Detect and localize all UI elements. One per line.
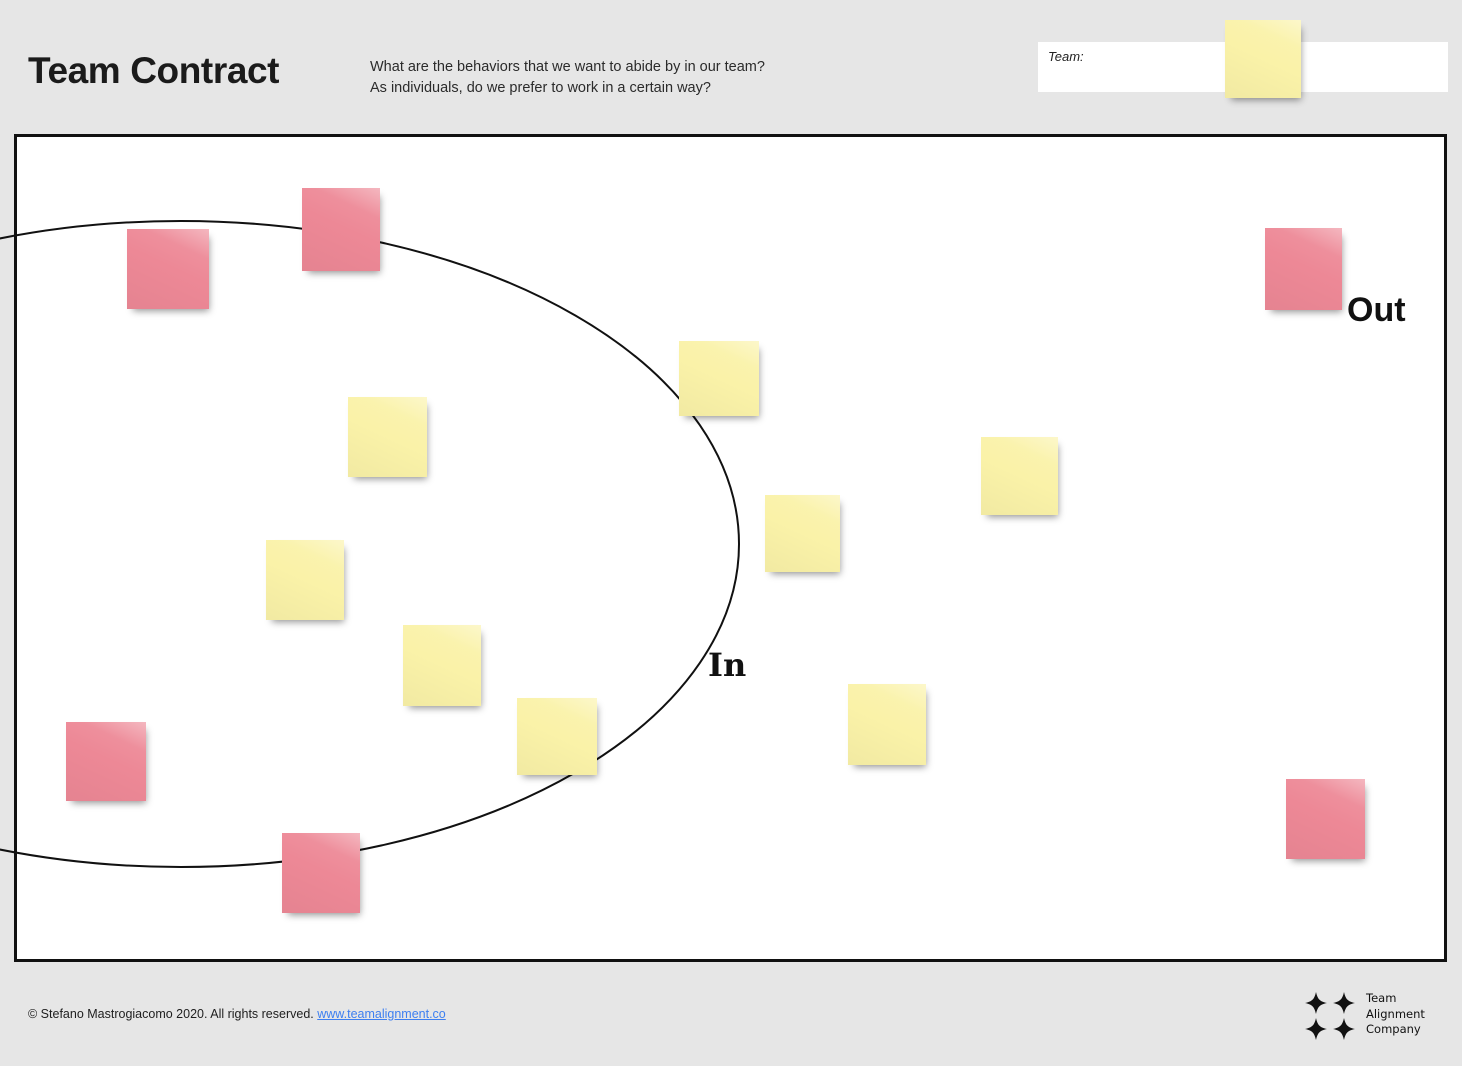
subtitle-line-2: As individuals, do we prefer to work in … — [370, 78, 765, 99]
brand-line-3: Company — [1366, 1022, 1425, 1038]
contract-canvas[interactable]: Out In — [14, 134, 1447, 962]
copyright-text: © Stefano Mastrogiacomo 2020. All rights… — [28, 1007, 314, 1021]
four-pointed-star-icon — [1303, 990, 1361, 1042]
sticky-note-yellow-4[interactable] — [765, 495, 840, 572]
sticky-note-yellow-6[interactable] — [403, 625, 481, 706]
sticky-note-pink-3[interactable] — [1265, 228, 1342, 310]
sticky-note-yellow-3[interactable] — [981, 437, 1058, 515]
sticky-note-yellow-5[interactable] — [266, 540, 344, 620]
sticky-note-yellow-7[interactable] — [517, 698, 597, 775]
teamalignment-link[interactable]: www.teamalignment.co — [317, 1007, 446, 1021]
subtitle-line-1: What are the behaviors that we want to a… — [370, 57, 765, 78]
brand-line-2: Alignment — [1366, 1007, 1425, 1023]
sticky-note-yellow-8[interactable] — [848, 684, 926, 765]
brand-line-1: Team — [1366, 991, 1425, 1007]
sticky-note-yellow-2[interactable] — [348, 397, 427, 477]
brand-name: Team Alignment Company — [1366, 991, 1425, 1038]
sticky-note-pink-2[interactable] — [302, 188, 380, 271]
footer-copyright: © Stefano Mastrogiacomo 2020. All rights… — [28, 1007, 446, 1021]
sticky-note-pink-6[interactable] — [282, 833, 360, 913]
zone-label-out: Out — [1347, 291, 1406, 330]
sticky-note-pink-1[interactable] — [127, 229, 209, 309]
sticky-note-yellow-1[interactable] — [679, 341, 759, 416]
brand-logo: Team Alignment Company — [1303, 988, 1451, 1043]
sticky-note-pink-4[interactable] — [66, 722, 146, 801]
sticky-note-yellow-header[interactable] — [1225, 20, 1301, 98]
in-zone-ellipse — [17, 137, 1450, 965]
zone-label-in: In — [708, 646, 746, 684]
team-field-label: Team: — [1048, 49, 1084, 64]
page-title: Team Contract — [28, 52, 279, 89]
sticky-note-pink-5[interactable] — [1286, 779, 1365, 859]
page-subtitle: What are the behaviors that we want to a… — [370, 57, 765, 99]
